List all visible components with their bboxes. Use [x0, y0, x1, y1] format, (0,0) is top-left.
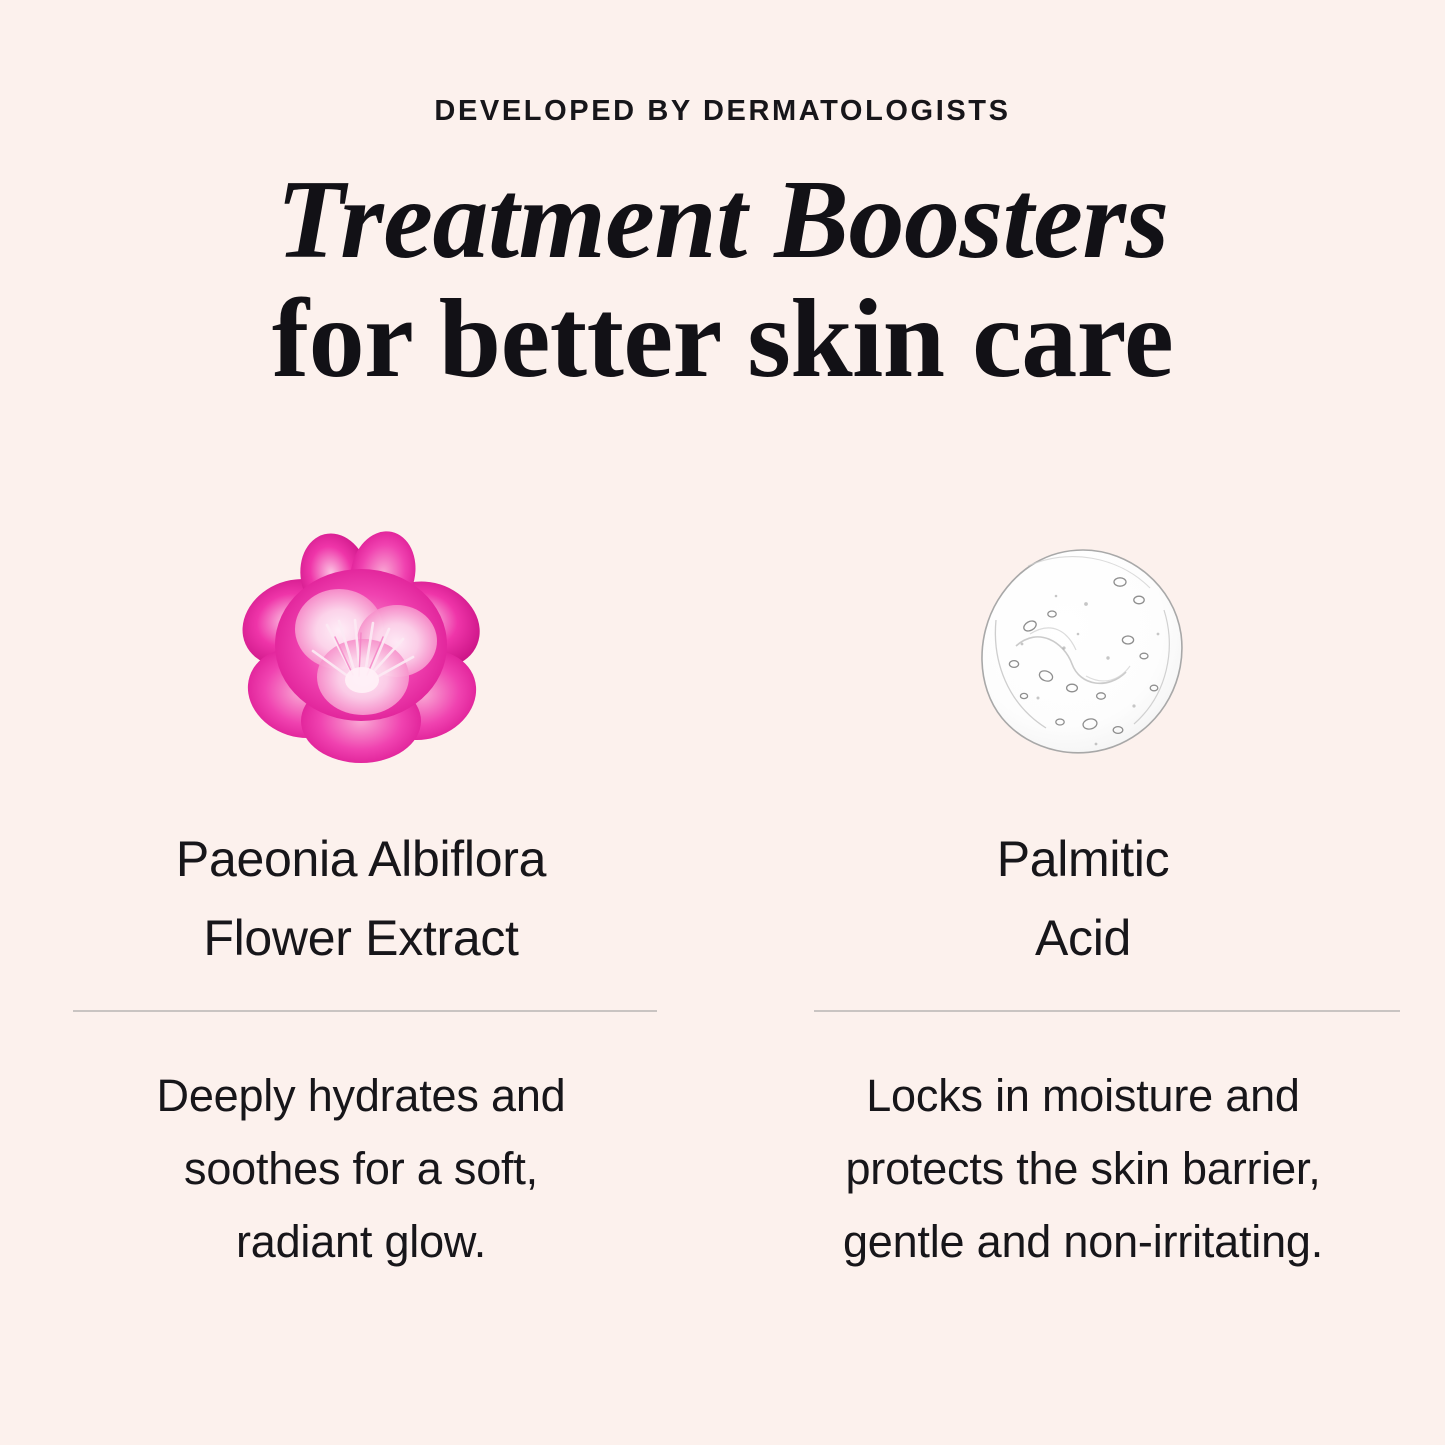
ingredient-description: Locks in moisture and protects the skin … — [843, 1060, 1323, 1279]
ingredient-title: Palmitic Acid — [997, 820, 1170, 978]
headline-line-1: Treatment Boosters — [0, 160, 1445, 281]
ingredient-card-palmitic-acid: Palmitic Acid Locks in moisture and prot… — [722, 505, 1444, 1279]
ingredient-desc-line-1: Locks in moisture and — [843, 1060, 1323, 1133]
ingredient-desc-line-2: soothes for a soft, — [157, 1133, 566, 1206]
ingredient-title-line-2: Acid — [997, 899, 1170, 978]
ingredient-desc-line-2: protects the skin barrier, — [843, 1133, 1323, 1206]
peony-flower-icon — [0, 505, 722, 795]
ingredient-title-line-1: Paeonia Albiflora — [176, 820, 546, 899]
eyebrow-text: DEVELOPED BY DERMATOLOGISTS — [0, 95, 1445, 128]
ingredient-desc-line-3: radiant glow. — [157, 1206, 566, 1279]
ingredient-desc-line-1: Deeply hydrates and — [157, 1060, 566, 1133]
ingredient-card-peony: Paeonia Albiflora Flower Extract Deeply … — [0, 505, 722, 1279]
divider — [814, 1010, 1400, 1012]
ingredient-description: Deeply hydrates and soothes for a soft, … — [157, 1060, 566, 1279]
ingredient-title-line-2: Flower Extract — [176, 899, 546, 978]
divider — [73, 1010, 657, 1012]
ingredient-title: Paeonia Albiflora Flower Extract — [176, 820, 546, 978]
headline-line-2: for better skin care — [0, 277, 1445, 402]
page-title: Treatment Boosters for better skin care — [0, 160, 1445, 402]
infographic-page: DEVELOPED BY DERMATOLOGISTS Treatment Bo… — [0, 0, 1445, 1445]
ingredient-columns: Paeonia Albiflora Flower Extract Deeply … — [0, 505, 1445, 1279]
ingredient-desc-line-3: gentle and non-irritating. — [843, 1206, 1323, 1279]
gel-droplet-icon — [722, 505, 1444, 795]
ingredient-title-line-1: Palmitic — [997, 820, 1170, 899]
